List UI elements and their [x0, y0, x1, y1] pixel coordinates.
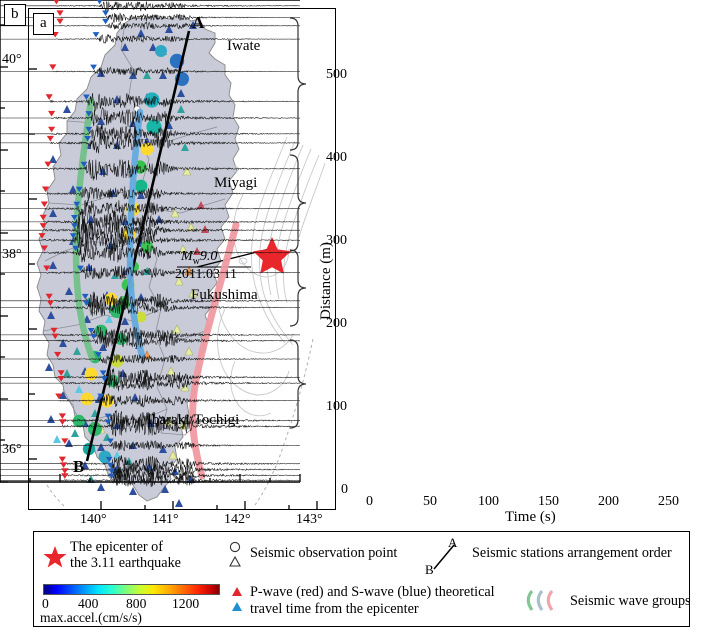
p-wave-triangle: [46, 294, 53, 300]
lon-tick-143: 143°: [296, 512, 323, 528]
region-label-fukushima: Fukushima: [191, 287, 258, 304]
legend-wave-groups-label: Seismic wave groups: [570, 594, 691, 610]
seis-y-ticks: [0, 25, 8, 482]
p-wave-triangle: [59, 419, 66, 425]
seis-x-tick-200: 200: [598, 494, 619, 510]
seismogram-trace: [0, 125, 300, 142]
p-wave-triangle: [52, 334, 59, 340]
p-wave-triangle: [48, 111, 55, 117]
p-wave-triangle: [47, 300, 54, 306]
s-wave-triangle: [101, 376, 108, 381]
p-wave-triangle: [41, 246, 48, 252]
seis-x-tick-0: 0: [366, 494, 373, 510]
legend-pwave-swave-icon: [230, 586, 244, 614]
seis-axes: [0, 0, 300, 482]
p-wave-triangle: [40, 215, 47, 221]
seismogram-trace: [0, 394, 300, 407]
p-wave-triangle: [48, 127, 55, 133]
seis-y-tick-0: 0: [341, 482, 348, 498]
legend-wave-groups-icon: [524, 588, 568, 614]
seis-y-tick-500: 500: [326, 67, 347, 83]
p-wave-triangle: [43, 265, 50, 271]
p-wave-triangle: [40, 223, 47, 229]
lon-tick-140: 140°: [80, 512, 107, 528]
p-wave-triangle: [61, 468, 68, 474]
s-wave-triangle: [106, 457, 113, 462]
p-wave-triangle: [61, 473, 68, 479]
seismogram-panel: b Iwate Miyagi Fukushima Ibaraki/Tochigi: [0, 0, 331, 489]
legend-wave-line2: travel time from the epicenter: [250, 602, 419, 618]
lon-tick-142: 142°: [224, 512, 251, 528]
p-wave-triangle: [55, 393, 62, 399]
region-label-iwate: Iwate: [227, 38, 260, 55]
p-wave-triangle: [59, 413, 66, 419]
legend-observation-point-label: Seismic observation point: [250, 546, 397, 562]
seis-y-tick-400: 400: [326, 150, 347, 166]
p-wave-triangle: [61, 438, 68, 444]
legend-arrangement-label: Seismic stations arrangement order: [472, 546, 672, 562]
p-wave-triangle: [42, 187, 49, 193]
seismogram-trace: [0, 354, 300, 364]
s-wave-triangle: [90, 334, 97, 339]
s-wave-triangle: [100, 370, 107, 375]
p-wave-triangle: [38, 233, 45, 239]
lon-tick-141: 141°: [152, 512, 179, 528]
figure-root: a A B Mw9.0 2011.03.11 40° 38° 36° 140° …: [0, 0, 724, 636]
p-wave-triangle: [41, 201, 48, 207]
s-wave-triangle: [90, 65, 97, 70]
panel-tag-a: a: [33, 13, 54, 35]
s-wave-triangle: [105, 419, 112, 424]
s-wave-triangle: [93, 32, 100, 37]
p-wave-triangle: [44, 162, 51, 168]
legend-arrangement-a: A: [448, 535, 457, 551]
seis-x-tick-150: 150: [538, 494, 559, 510]
legend-arrangement-b: B: [425, 562, 434, 578]
s-wave-triangle: [95, 352, 102, 357]
p-wave-triangle: [46, 94, 53, 100]
p-wave-triangle: [54, 352, 61, 358]
legend-cbar-caption: max.accel.(cm/s/s): [40, 610, 142, 626]
p-wave-triangle: [49, 64, 56, 70]
seis-y-axis-title: Distance (m): [318, 242, 335, 320]
region-label-ibaraki-tochigi: Ibaraki/Tochigi: [147, 412, 239, 429]
legend-epicenter-line2: the 3.11 earthquake: [70, 556, 181, 572]
p-wave-triangle: [50, 328, 57, 334]
legend-star-icon: [43, 545, 67, 569]
seis-x-axis-title: Time (s): [505, 509, 556, 526]
seismogram-trace: [0, 1, 300, 11]
seismogram-trace: [0, 133, 300, 153]
seis-y-tick-100: 100: [326, 399, 347, 415]
s-wave-triangle: [102, 19, 109, 24]
s-wave-triangle: [82, 294, 89, 299]
legend-colorbar: [43, 584, 220, 595]
p-wave-triangle: [47, 136, 54, 142]
legend-wave-line1: P-wave (red) and S-wave (blue) theoretic…: [250, 585, 495, 601]
seismogram-trace: [0, 67, 300, 76]
seis-x-tick-50: 50: [423, 494, 437, 510]
panel-tag-b: b: [4, 4, 26, 26]
legend-epicenter-line1: The epicenter of: [70, 540, 163, 556]
region-label-miyagi: Miyagi: [214, 175, 257, 192]
legend-cbar-tick-1200: 1200: [172, 596, 199, 612]
s-wave-triangle: [102, 11, 109, 16]
seismogram-trace: [0, 93, 300, 111]
bracket-ibaraki: [290, 340, 306, 428]
bracket-miyagi: [290, 155, 306, 251]
seismogram-trace: [0, 455, 300, 471]
seismogram-trace: [0, 440, 300, 451]
p-wave-triangle: [58, 376, 65, 382]
seis-x-tick-250: 250: [658, 494, 679, 510]
legend-observation-point-icon: [228, 541, 244, 569]
bracket-fukushima: [290, 250, 306, 326]
seis-x-tick-100: 100: [478, 494, 499, 510]
p-wave-triangle: [60, 462, 67, 468]
legend-box: The epicenter of the 3.11 earthquake 0 4…: [33, 531, 690, 627]
p-wave-triangle: [58, 370, 65, 376]
p-wave-triangle: [56, 10, 63, 16]
region-brackets: [290, 18, 306, 428]
p-wave-triangle: [56, 19, 63, 25]
bracket-iwate: [290, 18, 306, 150]
seismogram-trace: [0, 108, 300, 127]
red-wave-group-curve: [193, 225, 236, 476]
seismogram-trace: [0, 241, 300, 263]
p-wave-triangle: [59, 457, 66, 463]
